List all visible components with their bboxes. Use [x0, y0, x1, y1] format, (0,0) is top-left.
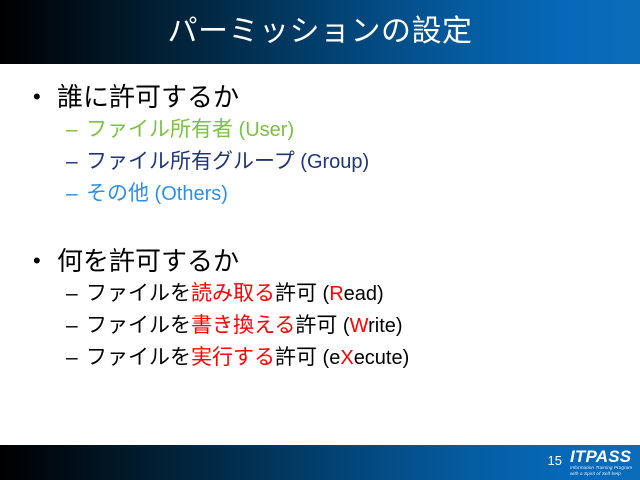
dash-icon: – — [66, 178, 78, 209]
sub-item-read-prefix: ファイルを — [86, 282, 191, 305]
page-number: 15 — [538, 453, 562, 469]
sub-item-user: – ファイル所有者 (User) — [0, 114, 640, 146]
slide-title: パーミッションの設定 — [0, 0, 640, 64]
sub-item-write-prefix: ファイルを — [86, 314, 191, 337]
itpass-logo: ITPASS Information Training Program with… — [570, 448, 636, 476]
sub-item-read-paren-initial: R — [329, 283, 343, 305]
content-group-who: • 誰に許可するか – ファイル所有者 (User) – ファイル所有グループ … — [0, 80, 640, 210]
dash-icon: – — [66, 310, 78, 341]
slide: パーミッションの設定 • 誰に許可するか – ファイル所有者 (User) – … — [0, 0, 640, 480]
title-bar: パーミッションの設定 — [0, 0, 640, 64]
sub-item-write-suffix: 許可 — [295, 314, 337, 337]
sub-item-write-paren-open: ( — [337, 315, 349, 337]
sub-item-group-latin: (Group) — [295, 151, 369, 173]
bullet-dot-icon: • — [33, 80, 49, 114]
bullet-heading-who-label: 誰に許可するか — [57, 82, 239, 112]
content-group-what: • 何を許可するか – ファイルを読み取る許可 (Read) – ファイルを書き… — [0, 244, 640, 374]
sub-item-write-paren-rest: rite) — [368, 315, 402, 337]
itpass-wordmark: ITPASS — [570, 448, 636, 465]
dash-icon: – — [66, 114, 78, 145]
sub-item-user-latin: (User) — [233, 119, 294, 141]
sub-item-group: – ファイル所有グループ (Group) — [0, 146, 640, 178]
itpass-tagline-line2: with a Spirit of Self-help — [570, 471, 636, 477]
sub-item-group-jp: ファイル所有グループ — [86, 150, 295, 173]
sub-item-user-jp: ファイル所有者 — [86, 118, 233, 141]
dash-icon: – — [66, 278, 78, 309]
sub-item-read-paren-rest: ead) — [344, 283, 384, 305]
sub-item-read-suffix: 許可 — [275, 282, 317, 305]
sub-item-execute-paren-rest: ecute) — [354, 347, 410, 369]
dash-icon: – — [66, 342, 78, 373]
sub-item-execute-paren-open: (e — [317, 347, 340, 369]
sub-item-read-emphasis: 読み取る — [191, 282, 275, 305]
sub-item-execute-prefix: ファイルを — [86, 346, 191, 369]
sub-item-read-paren-open: ( — [317, 283, 329, 305]
sub-item-execute-emphasis: 実行する — [191, 346, 275, 369]
sub-item-others-jp: その他 — [86, 182, 149, 205]
slide-body: • 誰に許可するか – ファイル所有者 (User) – ファイル所有グループ … — [0, 64, 640, 445]
sub-item-others-latin: (Others) — [149, 183, 228, 205]
sub-item-write: – ファイルを書き換える許可 (Write) — [0, 310, 640, 342]
bullet-dot-icon: • — [33, 244, 49, 278]
sub-item-write-paren-initial: W — [350, 315, 369, 337]
sub-item-read: – ファイルを読み取る許可 (Read) — [0, 278, 640, 310]
sub-item-execute-paren-initial: X — [340, 347, 353, 369]
sub-item-execute: – ファイルを実行する許可 (eXecute) — [0, 342, 640, 374]
itpass-tagline-line1: Information Training Program — [570, 465, 636, 471]
sub-item-execute-suffix: 許可 — [275, 346, 317, 369]
dash-icon: – — [66, 146, 78, 177]
bullet-heading-who: • 誰に許可するか — [0, 80, 640, 114]
sub-item-write-emphasis: 書き換える — [191, 314, 295, 337]
bullet-heading-what: • 何を許可するか — [0, 244, 640, 278]
sub-item-others: – その他 (Others) — [0, 178, 640, 210]
bullet-heading-what-label: 何を許可するか — [57, 246, 239, 276]
